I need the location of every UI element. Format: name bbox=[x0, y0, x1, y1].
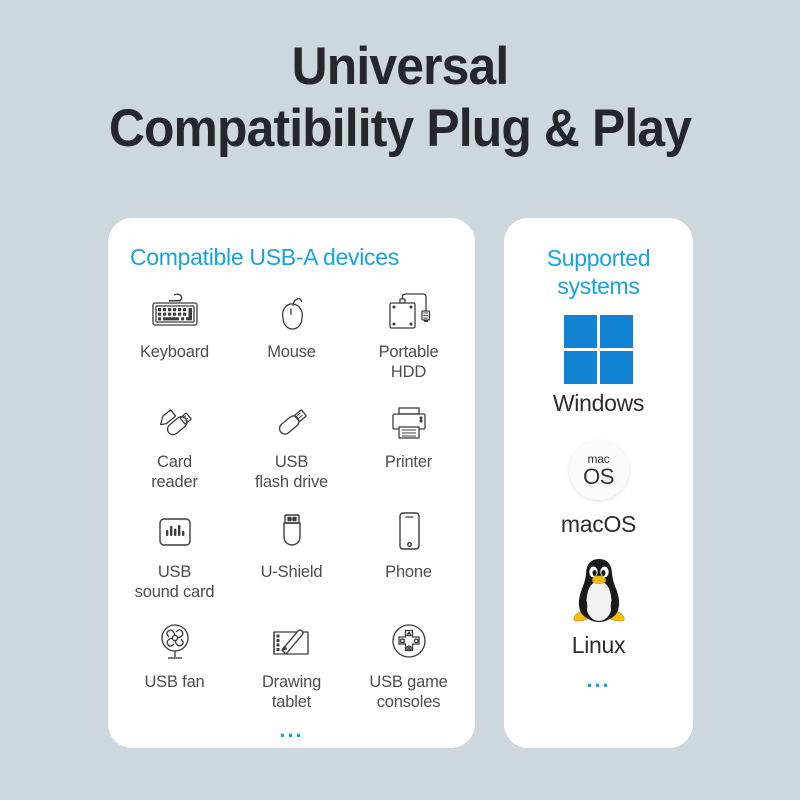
device-label: USB gameconsoles bbox=[369, 672, 447, 712]
device-label: USBsound card bbox=[135, 562, 215, 602]
os-label: Linux bbox=[572, 632, 626, 659]
device-item-u-shield[interactable]: U-Shield bbox=[233, 509, 350, 613]
promo-page: Universal Compatibility Plug & Play Comp… bbox=[0, 0, 800, 800]
page-title-line-2: Compatibility Plug & Play bbox=[24, 98, 776, 160]
os-label: Windows bbox=[553, 390, 644, 417]
os-item-macos[interactable]: mac OS macOS bbox=[561, 433, 636, 538]
cards-container: Compatible USB-A devices bbox=[108, 218, 693, 748]
macos-badge: mac OS bbox=[569, 440, 629, 500]
device-label: Keyboard bbox=[140, 342, 209, 362]
keyboard-icon bbox=[147, 289, 203, 335]
device-item-printer[interactable]: Printer bbox=[350, 399, 467, 503]
page-title-line-1: Universal bbox=[24, 36, 776, 98]
compatible-devices-card: Compatible USB-A devices bbox=[108, 218, 475, 748]
usb-flash-drive-icon bbox=[269, 399, 315, 445]
supported-systems-title: Supportedsystems bbox=[504, 218, 693, 300]
card-reader-icon bbox=[151, 399, 199, 445]
macos-badge-bottom: OS bbox=[583, 465, 614, 488]
usb-game-console-icon bbox=[386, 619, 432, 665]
device-item-drawing-tablet[interactable]: Drawingtablet bbox=[233, 619, 350, 723]
phone-icon bbox=[392, 509, 426, 555]
device-label: PortableHDD bbox=[379, 342, 439, 382]
device-label: Drawingtablet bbox=[262, 672, 321, 712]
windows-logo-icon bbox=[561, 312, 635, 386]
os-item-linux[interactable]: Linux bbox=[566, 554, 632, 659]
printer-icon bbox=[385, 399, 433, 445]
device-label: U-Shield bbox=[261, 562, 323, 582]
u-shield-icon bbox=[272, 509, 312, 555]
devices-more-indicator[interactable]: ... bbox=[108, 725, 475, 735]
device-item-phone[interactable]: Phone bbox=[350, 509, 467, 613]
os-label: macOS bbox=[561, 511, 636, 538]
portable-hdd-icon bbox=[383, 289, 435, 335]
compatible-devices-title: Compatible USB-A devices bbox=[108, 218, 475, 271]
systems-more-indicator[interactable]: ... bbox=[504, 675, 693, 685]
os-list: Windows mac OS macOS bbox=[504, 312, 693, 659]
device-item-card-reader[interactable]: Cardreader bbox=[116, 399, 233, 503]
device-item-usb-flash-drive[interactable]: USBflash drive bbox=[233, 399, 350, 503]
linux-tux-icon bbox=[566, 554, 632, 628]
device-label: Printer bbox=[385, 452, 432, 472]
device-item-usb-fan[interactable]: USB fan bbox=[116, 619, 233, 723]
usb-fan-icon bbox=[153, 619, 197, 665]
device-item-usb-game-consoles[interactable]: USB gameconsoles bbox=[350, 619, 467, 723]
device-label: USB fan bbox=[144, 672, 204, 692]
page-title: Universal Compatibility Plug & Play bbox=[0, 36, 800, 160]
os-item-windows[interactable]: Windows bbox=[553, 312, 644, 417]
mouse-icon bbox=[269, 289, 315, 335]
device-label: Phone bbox=[385, 562, 432, 582]
device-item-usb-sound-card[interactable]: USBsound card bbox=[116, 509, 233, 613]
device-label: USBflash drive bbox=[255, 452, 328, 492]
device-grid: Keyboard Mouse bbox=[108, 289, 475, 723]
device-item-keyboard[interactable]: Keyboard bbox=[116, 289, 233, 393]
macos-logo-icon: mac OS bbox=[569, 433, 629, 507]
supported-systems-card: Supportedsystems bbox=[504, 218, 693, 748]
macos-badge-top: mac bbox=[587, 453, 609, 465]
device-item-portable-hdd[interactable]: PortableHDD bbox=[350, 289, 467, 393]
usb-sound-card-icon bbox=[152, 509, 198, 555]
drawing-tablet-icon bbox=[266, 619, 318, 665]
device-item-mouse[interactable]: Mouse bbox=[233, 289, 350, 393]
device-label: Cardreader bbox=[151, 452, 198, 492]
device-label: Mouse bbox=[267, 342, 316, 362]
